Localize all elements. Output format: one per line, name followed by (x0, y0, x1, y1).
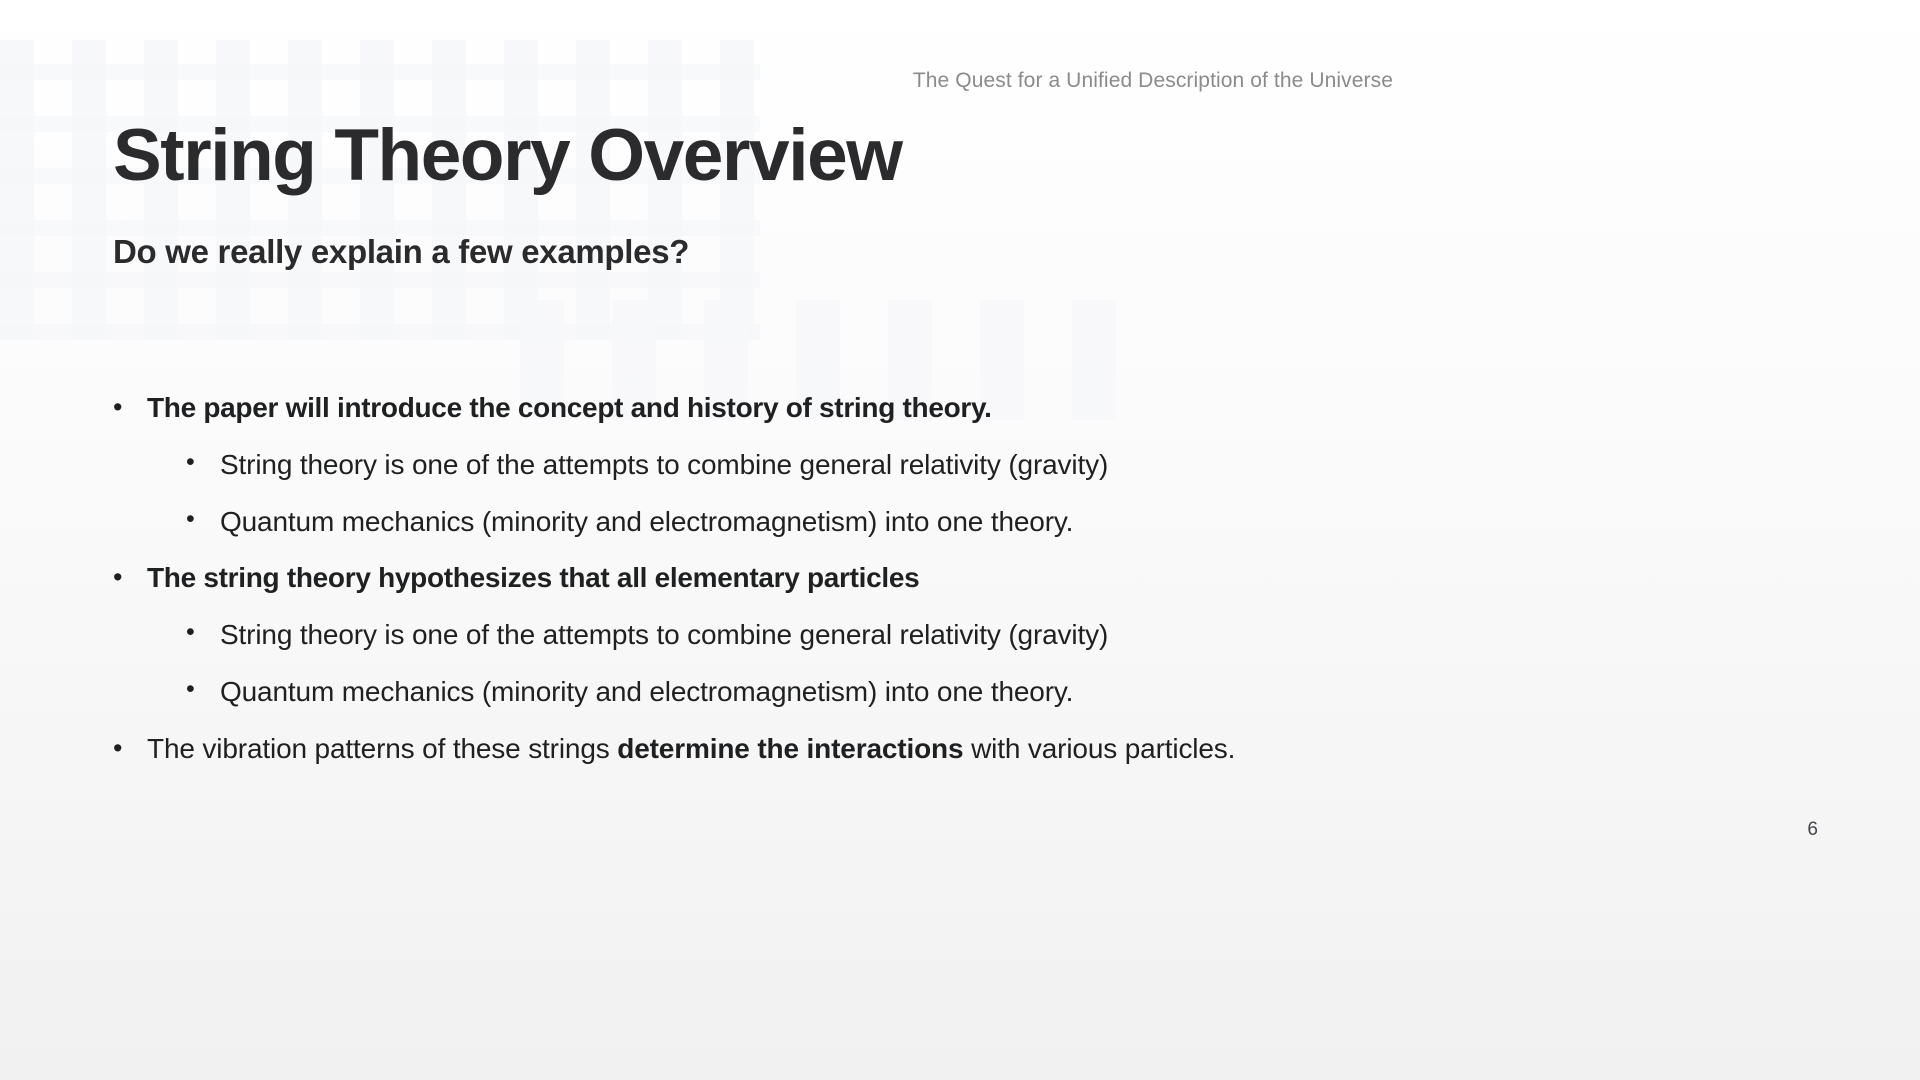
bullet-text: The vibration patterns of these strings … (147, 729, 1352, 769)
bullet-text: Quantum mechanics (minority and electrom… (220, 672, 1813, 712)
bullet-marker-icon: • (186, 672, 220, 708)
page-title: String Theory Overview (113, 118, 902, 195)
bullet-text: String theory is one of the attempts to … (220, 445, 1813, 485)
bullet-text: Quantum mechanics (minority and electrom… (220, 502, 1813, 542)
bullet-item-level-2: •String theory is one of the attempts to… (113, 615, 1813, 655)
bullet-text: String theory is one of the attempts to … (220, 615, 1813, 655)
bullet-marker-icon: • (113, 388, 147, 426)
bullet-item-level-2: •Quantum mechanics (minority and electro… (113, 502, 1813, 542)
bullet-item-level-1: •The vibration patterns of these strings… (113, 729, 1813, 769)
bullet-item-level-1: •The string theory hypothesizes that all… (113, 558, 1813, 598)
bullet-text-segment: The vibration patterns of these strings (147, 733, 617, 764)
slide-header-note: The Quest for a Unified Description of t… (913, 68, 1393, 93)
bullet-marker-icon: • (186, 615, 220, 651)
bullet-text: The string theory hypothesizes that all … (147, 558, 1813, 598)
bullet-text: The paper will introduce the concept and… (147, 388, 1813, 428)
bullet-item-level-1: •The paper will introduce the concept an… (113, 388, 1813, 428)
bullet-list: •The paper will introduce the concept an… (113, 388, 1813, 785)
bullet-item-level-2: •Quantum mechanics (minority and electro… (113, 672, 1813, 712)
page-subtitle: Do we really explain a few examples? (113, 232, 689, 272)
presentation-slide: The Quest for a Unified Description of t… (0, 0, 1920, 1080)
bullet-text-segment: with various particles. (963, 733, 1235, 764)
bullet-text-emphasis: determine the interactions (617, 733, 963, 764)
page-number: 6 (1807, 820, 1818, 839)
bullet-marker-icon: • (113, 729, 147, 767)
bullet-marker-icon: • (186, 502, 220, 538)
bullet-marker-icon: • (113, 558, 147, 596)
bullet-marker-icon: • (186, 445, 220, 481)
bullet-item-level-2: •String theory is one of the attempts to… (113, 445, 1813, 485)
